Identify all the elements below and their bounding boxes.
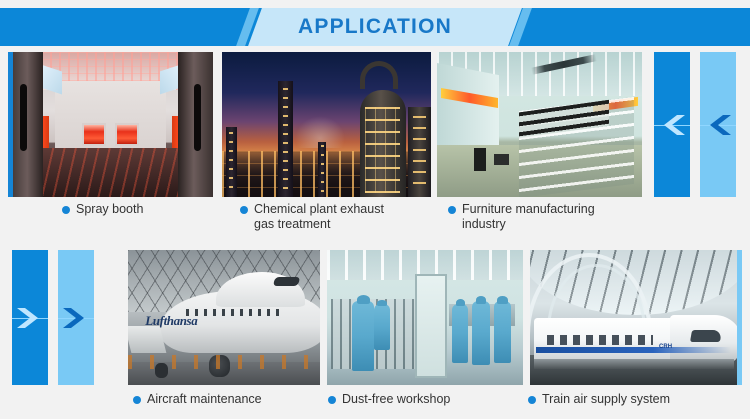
bullet-icon [528, 396, 536, 404]
caption-label: Furniture manufacturing industry [462, 202, 595, 232]
application-section: APPLICATION [0, 0, 750, 419]
caption-label: Dust-free workshop [342, 392, 450, 407]
booth-door-handle-left [20, 84, 27, 151]
chemical-plant-photo [222, 52, 431, 197]
bullet-icon [240, 206, 248, 214]
worker-cap [476, 296, 487, 304]
worker-cap [497, 296, 508, 304]
cleanroom-worker [494, 301, 512, 363]
train-windows [547, 335, 653, 344]
arrow-block-dark-left [654, 52, 690, 197]
booth-door-left [8, 52, 43, 197]
arrow-block-light-right [58, 250, 94, 385]
caption-label: Chemical plant exhaust gas treatment [254, 202, 384, 232]
card-image-spray-booth[interactable] [8, 52, 213, 197]
aircraft-cockpit-window [273, 277, 301, 286]
chevron-left-icon [659, 112, 685, 138]
blue-accent-bar [8, 52, 13, 197]
worker-cap [357, 295, 370, 304]
booth-grated-floor [41, 148, 180, 197]
cleanroom-worker [452, 304, 468, 363]
train-livery-text: CRH [659, 344, 672, 350]
chevron-right-icon [63, 305, 89, 331]
floor-object-1 [474, 148, 486, 171]
caption-label: Spray booth [76, 202, 143, 217]
caption-aircraft-maintenance: Aircraft maintenance [133, 392, 313, 407]
arrow-block-dark-right [12, 250, 48, 385]
bullet-icon [448, 206, 456, 214]
top-row [0, 52, 750, 197]
booth-door-right [178, 52, 213, 197]
distillation-tower-mid [318, 142, 326, 197]
train-cab-window [690, 330, 722, 342]
booth-door-handle-right [194, 84, 201, 151]
train-station-photo: CRH [530, 250, 742, 385]
card-image-aircraft-maintenance[interactable]: Lufthansa [128, 250, 320, 385]
bullet-icon [62, 206, 70, 214]
section-banner: APPLICATION [0, 8, 750, 46]
worker-cap [456, 299, 465, 307]
light-blue-accent-bar [737, 250, 742, 385]
cleanroom-worker [472, 301, 490, 364]
distillation-tower-tall [278, 81, 293, 197]
arrow-block-light-left [700, 52, 736, 197]
booth-heat-lamp-1 [82, 123, 107, 146]
cleanroom-worker [352, 301, 374, 371]
caption-label: Train air supply system [542, 392, 670, 407]
bullet-icon [328, 396, 336, 404]
caption-label: Aircraft maintenance [147, 392, 262, 407]
secondary-vessel [408, 107, 431, 197]
section-title: APPLICATION [0, 8, 750, 46]
caption-dust-free-workshop: Dust-free workshop [328, 392, 508, 407]
caption-furniture-industry: Furniture manufacturing industry [448, 202, 638, 232]
cleanroom-worker [374, 304, 390, 350]
card-image-chemical-plant[interactable] [222, 52, 431, 197]
card-image-dust-free-workshop[interactable] [327, 250, 523, 385]
cleanroom-photo [327, 250, 523, 385]
train-blue-stripe [536, 347, 731, 352]
booth-back-wall [55, 81, 166, 151]
bottom-row: Lufthansa [0, 250, 750, 385]
caption-train-air-supply: Train air supply system [528, 392, 743, 407]
hangar-ground-crew [128, 355, 320, 369]
furniture-workshop-photo [437, 52, 642, 197]
equipment-panel [415, 274, 446, 378]
train-under-skirt [534, 359, 733, 368]
floor-object-2 [494, 154, 508, 166]
chevron-left-icon [705, 112, 731, 138]
main-reactor-vessel [360, 90, 406, 197]
card-image-furniture-industry[interactable] [437, 52, 642, 197]
card-image-train-air-supply[interactable]: CRH [530, 250, 742, 385]
chevron-right-icon [17, 305, 43, 331]
caption-chemical-plant: Chemical plant exhaust gas treatment [240, 202, 430, 232]
booth-heat-lamp-2 [115, 123, 140, 146]
spray-booth-photo [8, 52, 213, 197]
bullet-icon [133, 396, 141, 404]
caption-spray-booth: Spray booth [62, 202, 212, 217]
worker-cap [377, 300, 386, 306]
distillation-tower-small [226, 127, 236, 197]
aircraft-hangar-photo: Lufthansa [128, 250, 320, 385]
aircraft-wing [128, 326, 166, 353]
